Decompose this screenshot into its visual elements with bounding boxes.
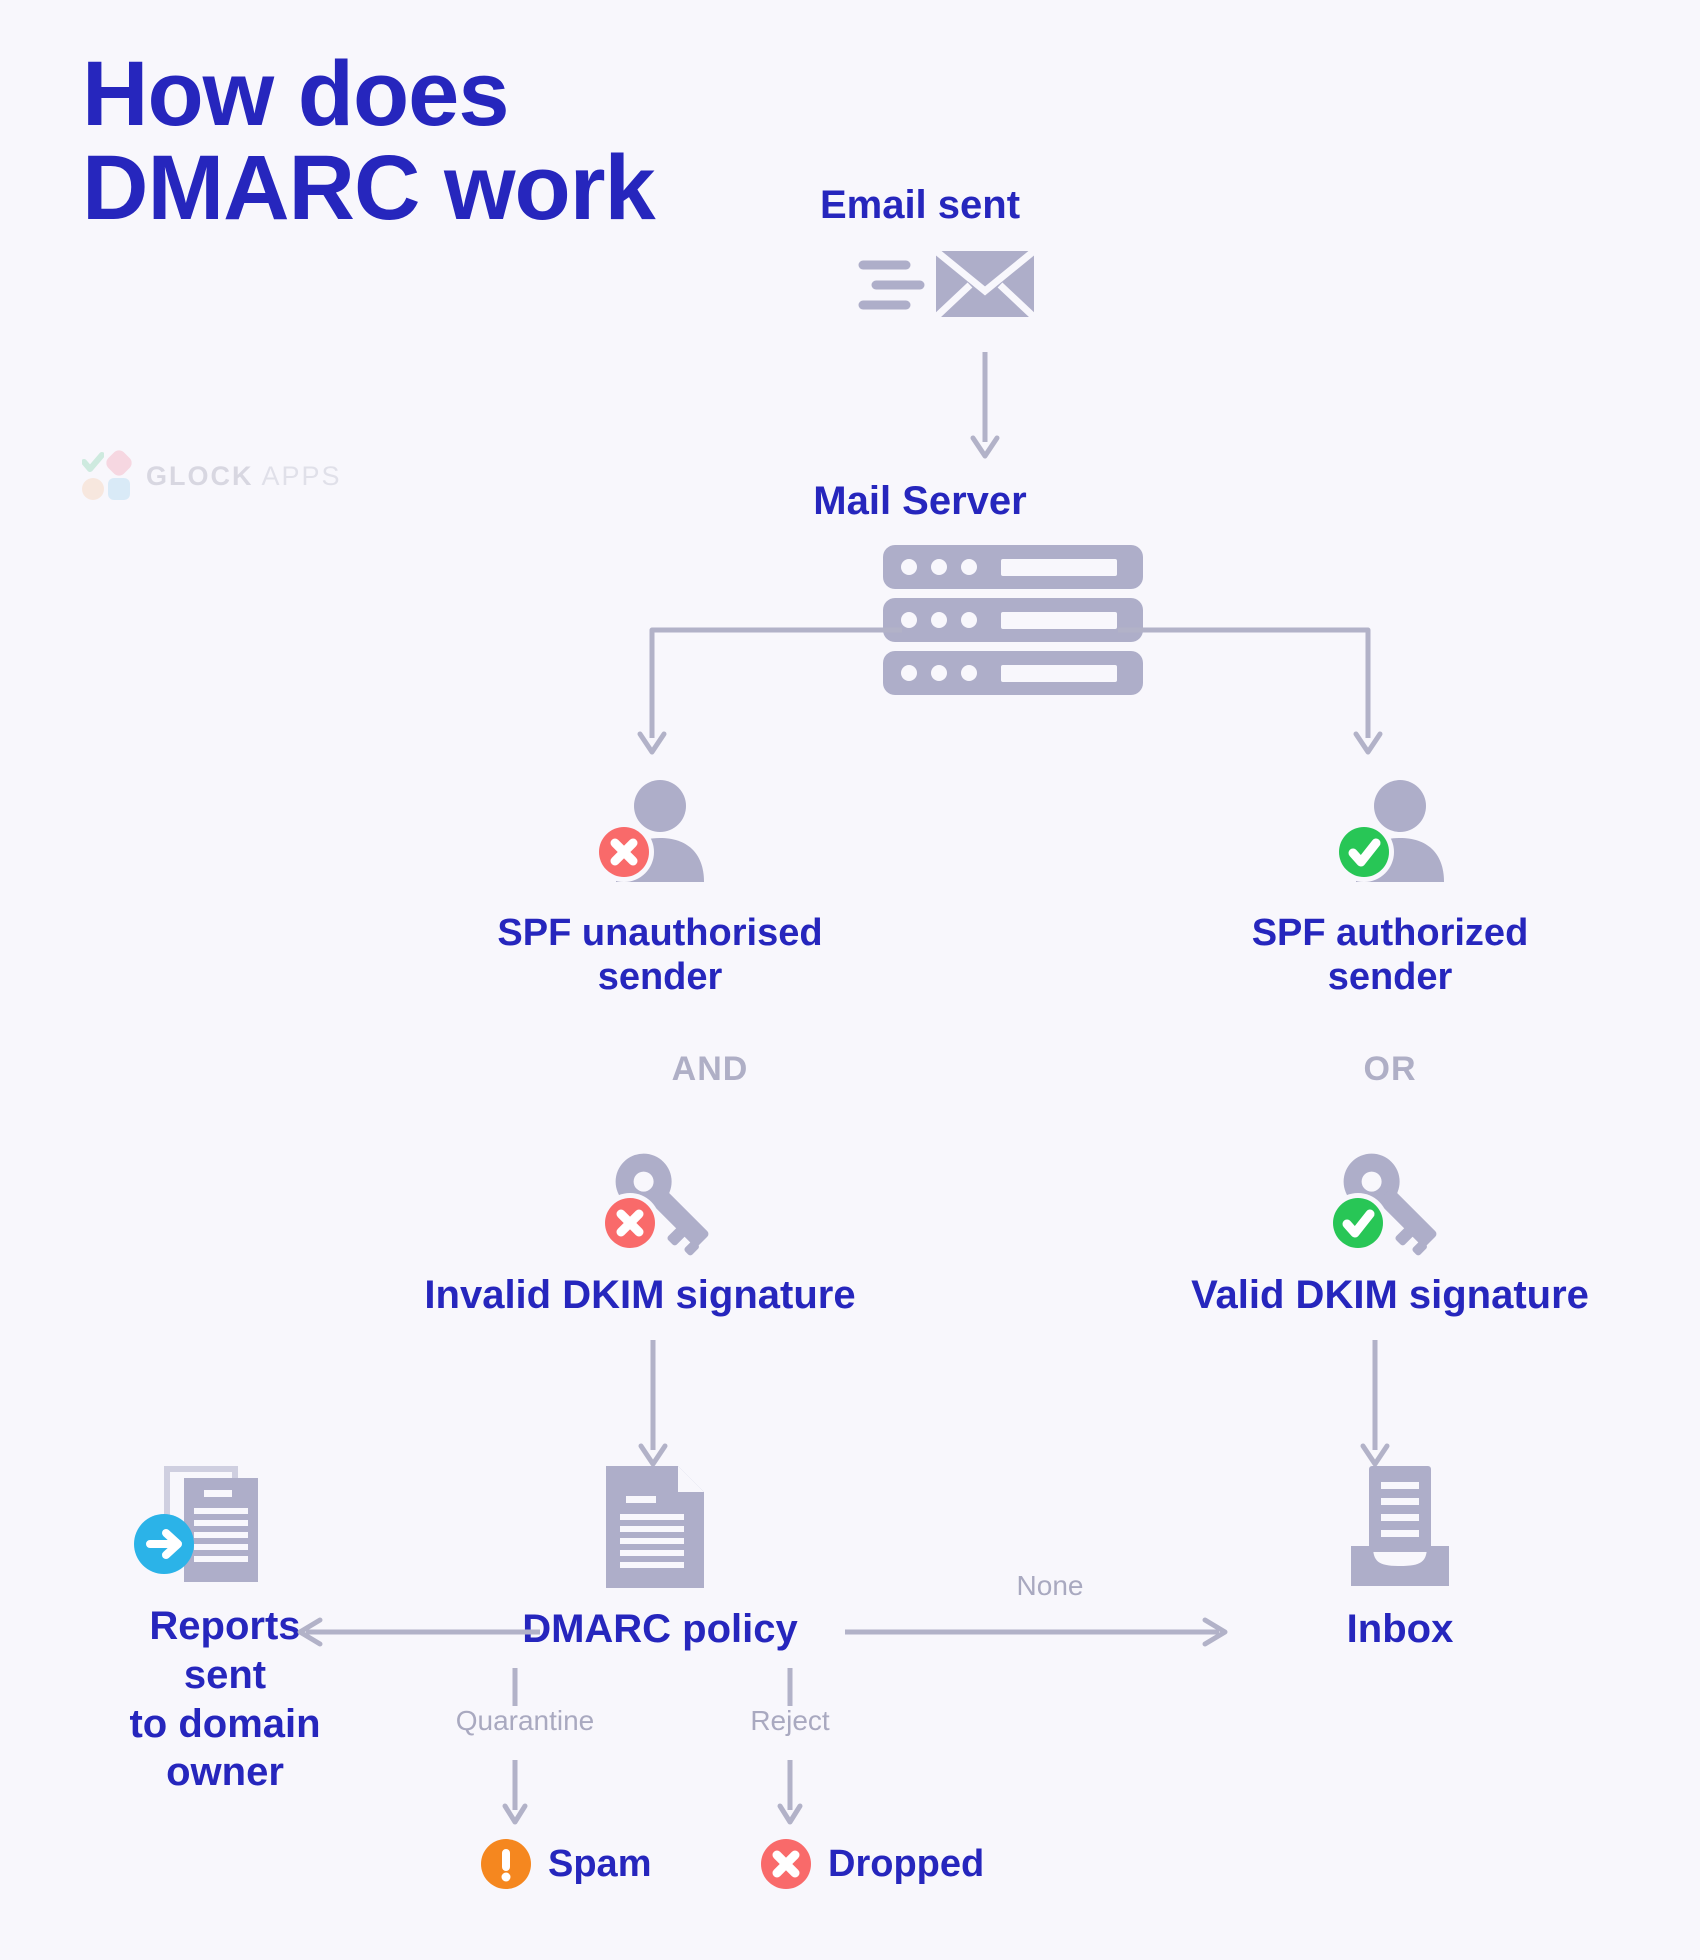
key-pass-icon xyxy=(1320,1140,1460,1260)
email-sent-label: Email sent xyxy=(770,182,1070,228)
spam-outcome: Spam xyxy=(480,1838,651,1890)
user-fail-icon xyxy=(588,778,718,888)
logic-and-label: AND xyxy=(560,1050,860,1089)
page-title: How does DMARC work xyxy=(82,48,722,236)
inbox-tray-icon xyxy=(1345,1462,1455,1592)
arrow-email-to-server xyxy=(965,352,1005,462)
circle-shape xyxy=(82,478,104,500)
valid-dkim-label: Valid DKIM signature xyxy=(1070,1272,1700,1318)
arrow-dkim-invalid-to-policy xyxy=(633,1340,673,1470)
documents-forward-icon xyxy=(132,1462,272,1592)
edge-label-reject: Reject xyxy=(700,1705,880,1737)
arrow-dkim-valid-to-inbox xyxy=(1355,1340,1395,1470)
reports-line2: sent xyxy=(35,1651,415,1700)
spf-authorized-line2: sender xyxy=(1150,956,1630,1000)
check-shape xyxy=(82,452,104,474)
spf-authorized-label: SPF authorized sender xyxy=(1150,912,1630,999)
key-fail-icon xyxy=(592,1140,732,1260)
reports-line4: owner xyxy=(35,1748,415,1797)
logo-wordmark: GLOCKAPPS xyxy=(146,461,342,492)
square-shape xyxy=(108,478,130,500)
spf-unauthorised-line1: SPF unauthorised xyxy=(420,912,900,956)
diamond-shape xyxy=(103,447,134,478)
logo-mark xyxy=(82,452,130,500)
spf-authorized-line1: SPF authorized xyxy=(1150,912,1630,956)
arrow-policy-to-inbox xyxy=(845,1612,1235,1652)
arrow-policy-to-reports xyxy=(290,1612,540,1652)
warning-circle-icon xyxy=(480,1838,532,1890)
arrow-policy-to-dropped xyxy=(775,1668,805,1828)
inbox-label: Inbox xyxy=(1240,1606,1560,1652)
reports-line3: to domain xyxy=(35,1700,415,1749)
edge-label-none: None xyxy=(950,1570,1150,1602)
x-circle-icon xyxy=(760,1838,812,1890)
document-icon xyxy=(600,1462,710,1592)
arrow-policy-to-spam xyxy=(500,1668,530,1828)
spam-label: Spam xyxy=(548,1843,651,1886)
dropped-label: Dropped xyxy=(828,1843,984,1886)
server-branch-connectors xyxy=(630,622,1390,762)
invalid-dkim-label: Invalid DKIM signature xyxy=(330,1272,950,1318)
mail-server-label: Mail Server xyxy=(730,478,1110,524)
infographic-canvas: How does DMARC work GLOCKAPPS Email sent xyxy=(0,0,1700,1960)
spf-unauthorised-line2: sender xyxy=(420,956,900,1000)
envelope-icon xyxy=(858,243,1038,323)
spf-unauthorised-label: SPF unauthorised sender xyxy=(420,912,900,999)
logo-brand-light: APPS xyxy=(262,461,342,491)
logic-or-label: OR xyxy=(1240,1050,1540,1089)
logo-brand-bold: GLOCK xyxy=(146,461,254,491)
dropped-outcome: Dropped xyxy=(760,1838,984,1890)
edge-label-quarantine: Quarantine xyxy=(400,1705,650,1737)
user-pass-icon xyxy=(1328,778,1458,888)
glockapps-logo: GLOCKAPPS xyxy=(82,452,342,500)
